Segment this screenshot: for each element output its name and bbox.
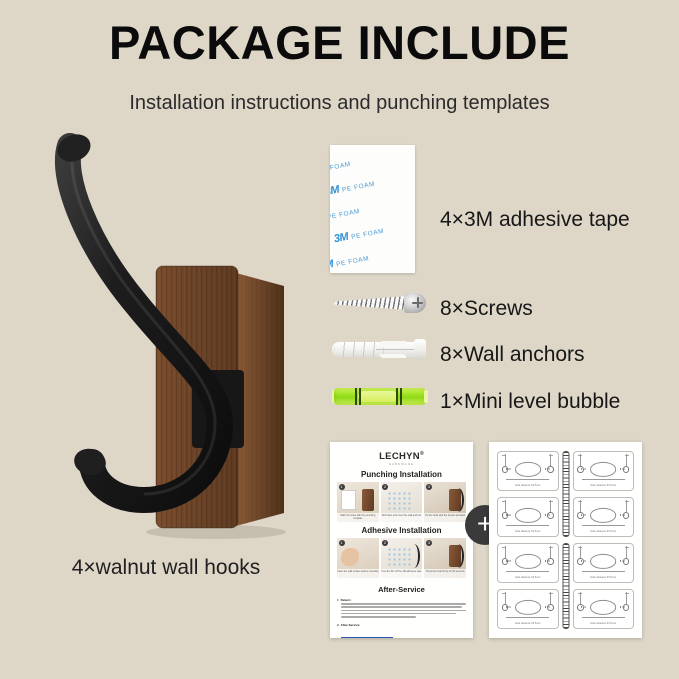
adhesive-step-panels: 1 Clean the wall surface before mounting… bbox=[337, 538, 466, 578]
section-heading-adhesive: Adhesive Installation bbox=[337, 526, 466, 535]
step-photo: 3 Fix the hook with the screws provided bbox=[424, 482, 466, 522]
wall-anchor-icon bbox=[330, 338, 430, 360]
item-label-adhesive-tape: 4×3M adhesive tape bbox=[440, 208, 630, 232]
tape-brand-mark: 3M bbox=[330, 145, 331, 151]
step-photo: 1 Clean the wall surface before mounting bbox=[337, 538, 379, 578]
punching-step-panels: 1 Mark the holes with the punching templ… bbox=[337, 482, 466, 522]
template-card: Hole distance 63.5mm bbox=[497, 497, 559, 537]
template-card: Hole distance 63.5mm bbox=[573, 543, 635, 583]
template-card-grid: Hole distance 63.5mm Hole distance 63.5m… bbox=[497, 451, 634, 629]
brand-logo: LECHYN® bbox=[337, 451, 466, 462]
screw-icon bbox=[330, 292, 430, 314]
template-card: Hole distance 63.5mm bbox=[573, 451, 635, 491]
paragraph-lines bbox=[341, 603, 466, 617]
template-card: Hole distance 63.5mm bbox=[573, 589, 635, 629]
adhesive-pad-icon: 3MPE FOAM 3MPE FOAM 3MPE FOAM 3MPE FOAM … bbox=[330, 145, 415, 273]
product-caption: 4×walnut wall hooks bbox=[16, 556, 316, 580]
punching-template-sheet: Hole distance 63.5mm Hole distance 63.5m… bbox=[489, 442, 642, 638]
template-card: Hole distance 63.5mm bbox=[497, 451, 559, 491]
item-label-level-bubble: 1×Mini level bubble bbox=[440, 390, 620, 414]
clause-return: 1 Return: bbox=[337, 598, 466, 619]
brand-subtext: HARDWARE bbox=[337, 462, 466, 466]
item-label-wall-anchors: 8×Wall anchors bbox=[440, 343, 585, 367]
section-heading-punching: Punching Installation bbox=[337, 470, 466, 479]
email-link[interactable] bbox=[341, 637, 394, 639]
level-bubble-icon bbox=[330, 385, 430, 407]
step-photo: 3 Press the hook firmly for 30 seconds bbox=[424, 538, 466, 578]
vertical-ruler-icon bbox=[562, 451, 569, 537]
step-photo: 1 Mark the holes with the punching templ… bbox=[337, 482, 379, 522]
clause-after-service: 2 After-Service: bbox=[337, 623, 466, 638]
hook-illustration bbox=[16, 118, 316, 548]
package-include-infographic: PACKAGE INCLUDE Installation instruction… bbox=[0, 0, 679, 679]
step-photo: 2 Drill holes and insert the wall anchor… bbox=[381, 482, 423, 522]
step-photo: 2 Peel the film off the 3M adhesive tape bbox=[381, 538, 423, 578]
template-card: Hole distance 63.5mm bbox=[497, 543, 559, 583]
vertical-ruler-icon bbox=[562, 543, 569, 629]
section-heading-after-service: After-Service bbox=[337, 585, 466, 594]
template-card: Hole distance 63.5mm bbox=[497, 589, 559, 629]
page-title: PACKAGE INCLUDE bbox=[0, 18, 679, 67]
instruction-sheet: LECHYN® HARDWARE Punching Installation 1… bbox=[330, 442, 473, 638]
template-card: Hole distance 63.5mm bbox=[573, 497, 635, 537]
page-subtitle: Installation instructions and punching t… bbox=[0, 92, 679, 115]
item-label-screws: 8×Screws bbox=[440, 297, 533, 321]
walnut-wall-hook-photo bbox=[16, 118, 316, 548]
paragraph-lines bbox=[341, 628, 466, 638]
